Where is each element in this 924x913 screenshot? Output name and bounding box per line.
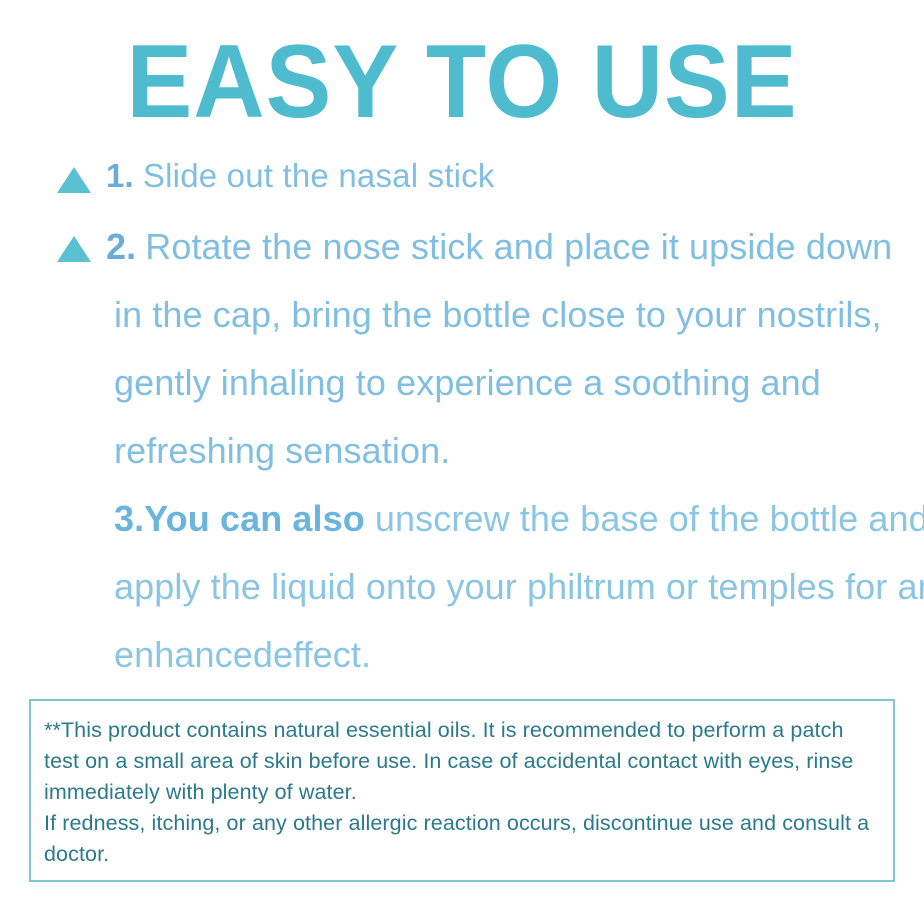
triangle-bullet-icon xyxy=(57,167,91,193)
triangle-bullet-icon xyxy=(57,236,91,262)
step-2-label: Rotate the nose stick and place it upsid… xyxy=(145,226,892,267)
step-1-number: 1. xyxy=(106,157,134,194)
page-title: EASY TO USE xyxy=(23,26,901,138)
step-2-number: 2. xyxy=(106,226,136,267)
disclaimer-paragraph-2: If redness, itching, or any other allerg… xyxy=(44,808,880,870)
step-1-label: Slide out the nasal stick xyxy=(143,157,495,194)
disclaimer-paragraph-1: **This product contains natural essentia… xyxy=(44,715,880,808)
step-2-continuation-line-2: gently inhaling to experience a soothing… xyxy=(114,358,821,408)
disclaimer-box: **This product contains natural essentia… xyxy=(29,699,895,882)
step-3-number: 3. xyxy=(114,498,144,539)
step-2-continuation-line-1: in the cap, bring the bottle close to yo… xyxy=(114,290,882,340)
step-3-continuation-line-1: apply the liquid onto your philtrum or t… xyxy=(114,562,924,612)
step-3-continuation-line-2: enhancedeffect. xyxy=(114,630,371,680)
step-3-lead: You can also xyxy=(144,498,365,539)
step-1-text-line: 1.Slide out the nasal stick xyxy=(106,152,495,200)
step-3-label: unscrew the base of the bottle and xyxy=(365,498,924,539)
step-2-text-line: 2.Rotate the nose stick and place it ups… xyxy=(106,222,892,272)
step-3-text-line: 3.You can also unscrew the base of the b… xyxy=(114,494,924,544)
step-2-continuation-line-3: refreshing sensation. xyxy=(114,426,450,476)
